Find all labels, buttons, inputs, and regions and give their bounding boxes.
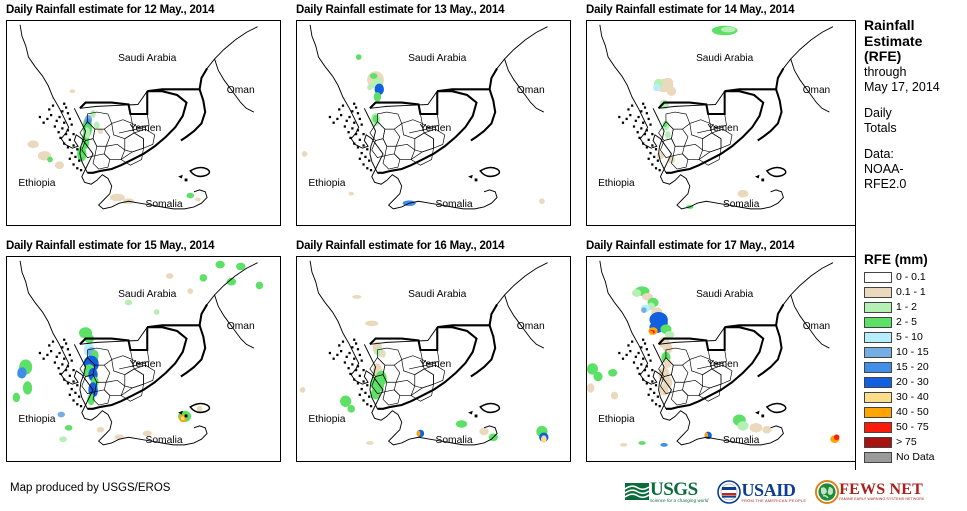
legend-row-8[interactable]: 30 - 40	[864, 390, 967, 405]
map-graphic: Saudi Arabia Oman Yemen Ethiopia Somalia	[7, 21, 280, 225]
map-panel-2[interactable]: Daily Rainfall estimate for 13 May., 201…	[296, 4, 571, 226]
svg-text:Ethiopia: Ethiopia	[598, 414, 635, 425]
legend-swatch-8	[864, 392, 892, 403]
legend-swatch-7	[864, 377, 892, 388]
legend-label-10: 50 - 75	[896, 422, 929, 433]
map-panel-6[interactable]: Daily Rainfall estimate for 17 May., 201…	[586, 240, 856, 462]
map-graphic: Saudi Arabia Oman Yemen Ethiopia Somalia	[587, 21, 855, 225]
svg-text:Yemen: Yemen	[420, 123, 452, 134]
fews-net-logo: FEWS NET FAMINE EARLY WARNING SYSTEMS NE…	[815, 477, 924, 507]
fews-globe-icon	[815, 480, 839, 504]
legend-label-0: 0 - 0.1	[896, 272, 926, 283]
map-panel-1[interactable]: Daily Rainfall estimate for 12 May., 201…	[6, 4, 281, 226]
legend-row-2[interactable]: 1 - 2	[864, 300, 967, 315]
usaid-wordmark: USAID	[741, 482, 806, 498]
fews-tagline: FAMINE EARLY WARNING SYSTEMS NETWORK	[839, 497, 924, 502]
map-frame-1[interactable]: Saudi Arabia Oman Yemen Ethiopia Somalia	[6, 20, 281, 226]
sidebar-title-line-3: (RFE)	[864, 49, 967, 65]
legend-label-6: 15 - 20	[896, 362, 929, 373]
legend-label-3: 2 - 5	[896, 317, 917, 328]
legend-swatch-1	[864, 287, 892, 298]
svg-text:Somalia: Somalia	[145, 199, 182, 210]
legend-title: RFE (mm)	[864, 252, 967, 268]
svg-text:Ethiopia: Ethiopia	[18, 414, 55, 425]
usgs-tagline: science for a changing world	[650, 498, 708, 503]
map-frame-4[interactable]: Saudi Arabia Oman Yemen Ethiopia Somalia	[6, 256, 281, 462]
legend-label-5: 10 - 15	[896, 347, 929, 358]
legend-swatch-4	[864, 332, 892, 343]
svg-text:Saudi Arabia: Saudi Arabia	[696, 53, 753, 64]
map-panel-5[interactable]: Daily Rainfall estimate for 16 May., 201…	[296, 240, 571, 462]
svg-text:Somalia: Somalia	[145, 435, 182, 446]
map-panel-4[interactable]: Daily Rainfall estimate for 15 May., 201…	[6, 240, 281, 462]
svg-text:Somalia: Somalia	[435, 199, 472, 210]
svg-text:Yemen: Yemen	[130, 359, 162, 370]
svg-text:Saudi Arabia: Saudi Arabia	[118, 289, 177, 300]
legend-label-8: 30 - 40	[896, 392, 929, 403]
legend-row-3[interactable]: 2 - 5	[864, 315, 967, 330]
svg-text:Saudi Arabia: Saudi Arabia	[408, 289, 467, 300]
usaid-tagline: FROM THE AMERICAN PEOPLE	[741, 498, 806, 503]
map-graphic: Saudi Arabia Oman Yemen Ethiopia Somalia	[297, 257, 570, 461]
svg-text:Somalia: Somalia	[435, 435, 472, 446]
legend-row-1[interactable]: 0.1 - 1	[864, 285, 967, 300]
svg-text:Ethiopia: Ethiopia	[308, 178, 345, 189]
svg-text:Oman: Oman	[227, 85, 255, 96]
sidebar-title-line-2: Estimate	[864, 34, 967, 50]
legend-swatch-5	[864, 347, 892, 358]
map-frame-2[interactable]: Saudi Arabia Oman Yemen Ethiopia Somalia	[296, 20, 571, 226]
sidebar-totals-line-2: Totals	[864, 121, 967, 136]
sidebar-through-label: through	[864, 65, 967, 80]
svg-text:Saudi Arabia: Saudi Arabia	[696, 289, 753, 300]
sidebar-data-line-2: NOAA-	[864, 162, 967, 177]
legend-label-11: > 75	[896, 437, 917, 448]
svg-text:Oman: Oman	[517, 85, 545, 96]
legend-row-4[interactable]: 5 - 10	[864, 330, 967, 345]
legend-swatch-3	[864, 317, 892, 328]
legend-label-7: 20 - 30	[896, 377, 929, 388]
svg-text:Ethiopia: Ethiopia	[18, 178, 55, 189]
legend-row-7[interactable]: 20 - 30	[864, 375, 967, 390]
agency-logos: USGS science for a changing world USAID …	[624, 476, 924, 508]
legend-row-10[interactable]: 50 - 75	[864, 420, 967, 435]
usaid-seal-icon	[717, 480, 741, 504]
map-credit: Map produced by USGS/EROS	[10, 482, 170, 494]
rfe-legend: RFE (mm) 0 - 0.10.1 - 11 - 22 - 55 - 101…	[864, 252, 967, 465]
legend-label-1: 0.1 - 1	[896, 287, 926, 298]
map-frame-3[interactable]: Saudi Arabia Oman Yemen Ethiopia Somalia	[586, 20, 856, 226]
legend-row-9[interactable]: 40 - 50	[864, 405, 967, 420]
panel-title-1: Daily Rainfall estimate for 12 May., 201…	[6, 4, 281, 18]
map-frame-6[interactable]: Saudi Arabia Oman Yemen Ethiopia Somalia	[586, 256, 856, 462]
svg-text:Oman: Oman	[517, 321, 545, 332]
panel-title-5: Daily Rainfall estimate for 16 May., 201…	[296, 240, 571, 254]
legend-swatch-11	[864, 437, 892, 448]
panel-title-2: Daily Rainfall estimate for 13 May., 201…	[296, 4, 571, 18]
svg-text:Somalia: Somalia	[723, 435, 760, 446]
sidebar-title-line-1: Rainfall	[864, 18, 967, 34]
legend-rows: 0 - 0.10.1 - 11 - 22 - 55 - 1010 - 1515 …	[864, 270, 967, 465]
legend-swatch-2	[864, 302, 892, 313]
legend-swatch-9	[864, 407, 892, 418]
legend-row-12[interactable]: No Data	[864, 450, 967, 465]
sidebar-through-date: May 17, 2014	[864, 80, 967, 95]
svg-text:Yemen: Yemen	[707, 123, 738, 134]
svg-text:Oman: Oman	[227, 321, 255, 332]
usgs-wordmark: USGS	[650, 481, 708, 498]
map-graphic: Saudi Arabia Oman Yemen Ethiopia Somalia	[587, 257, 855, 461]
legend-label-9: 40 - 50	[896, 407, 929, 418]
map-frame-5[interactable]: Saudi Arabia Oman Yemen Ethiopia Somalia	[296, 256, 571, 462]
legend-label-12: No Data	[896, 452, 935, 463]
map-graphic: Saudi Arabia Oman Yemen Ethiopia Somalia	[7, 257, 280, 461]
svg-text:Somalia: Somalia	[723, 199, 760, 210]
legend-label-4: 5 - 10	[896, 332, 923, 343]
panel-title-3: Daily Rainfall estimate for 14 May., 201…	[586, 4, 856, 18]
panel-title-4: Daily Rainfall estimate for 15 May., 201…	[6, 240, 281, 254]
svg-text:Oman: Oman	[803, 321, 831, 332]
legend-swatch-10	[864, 422, 892, 433]
sidebar-divider	[855, 22, 856, 470]
legend-swatch-6	[864, 362, 892, 373]
svg-text:Yemen: Yemen	[420, 359, 452, 370]
legend-row-0[interactable]: 0 - 0.1	[864, 270, 967, 285]
legend-label-2: 1 - 2	[896, 302, 917, 313]
sidebar-info-block: Rainfall Estimate (RFE) through May 17, …	[864, 18, 967, 192]
legend-swatch-0	[864, 272, 892, 283]
panel-title-6: Daily Rainfall estimate for 17 May., 201…	[586, 240, 856, 254]
sidebar-totals-line-1: Daily	[864, 106, 967, 121]
map-panel-3[interactable]: Daily Rainfall estimate for 14 May., 201…	[586, 4, 856, 226]
usgs-logo: USGS science for a changing world	[624, 477, 708, 507]
legend-row-5[interactable]: 10 - 15	[864, 345, 967, 360]
svg-text:Saudi Arabia: Saudi Arabia	[408, 53, 467, 64]
legend-row-6[interactable]: 15 - 20	[864, 360, 967, 375]
svg-text:Ethiopia: Ethiopia	[308, 414, 345, 425]
sidebar-data-line-1: Data:	[864, 147, 967, 162]
fews-wordmark: FEWS NET	[839, 482, 924, 497]
svg-text:Ethiopia: Ethiopia	[598, 178, 635, 189]
usgs-mark-icon	[624, 481, 650, 503]
svg-text:Yemen: Yemen	[130, 123, 162, 134]
map-graphic: Saudi Arabia Oman Yemen Ethiopia Somalia	[297, 21, 570, 225]
svg-text:Yemen: Yemen	[707, 359, 738, 370]
svg-text:Saudi Arabia: Saudi Arabia	[118, 53, 177, 64]
legend-swatch-12	[864, 452, 892, 463]
sidebar-data-line-3: RFE2.0	[864, 177, 967, 192]
svg-text:Oman: Oman	[803, 85, 831, 96]
usaid-logo: USAID FROM THE AMERICAN PEOPLE	[717, 477, 806, 507]
legend-row-11[interactable]: > 75	[864, 435, 967, 450]
